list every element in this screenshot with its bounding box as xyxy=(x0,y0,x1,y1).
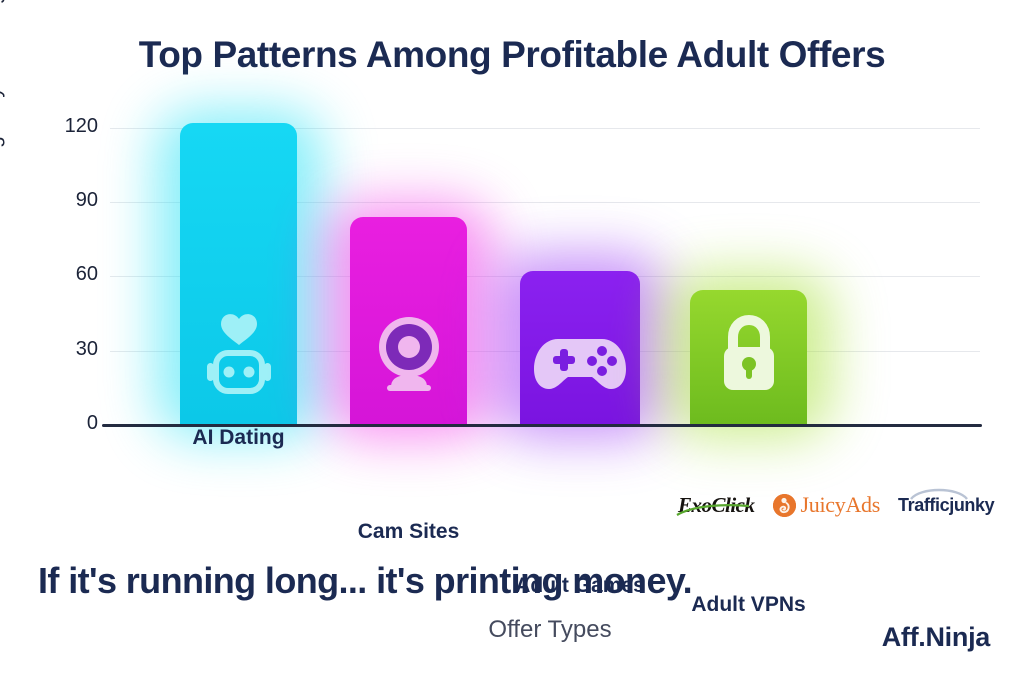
bar-group-ai-dating[interactable]: AI Dating xyxy=(180,123,297,425)
bar-group-cam-sites[interactable]: Cam Sites xyxy=(350,217,467,425)
y-tick-0: 0 xyxy=(38,412,98,435)
y-tick-120: 120 xyxy=(38,115,98,138)
bar-label-ai-dating: AI Dating xyxy=(192,426,284,450)
logo-juicyads-text: JuicyAds xyxy=(801,492,881,518)
logo-exoclick-text: ExoClick xyxy=(678,493,755,517)
gamepad-icon xyxy=(532,331,628,393)
cam-site-webcam-icon xyxy=(371,309,447,395)
y-tick-90: 90 xyxy=(38,189,98,212)
bar-label-cam-sites: Cam Sites xyxy=(358,520,460,544)
ai-dating-robot-heart-icon xyxy=(201,311,277,397)
y-tick-30: 30 xyxy=(38,338,98,361)
juicyads-mark-icon xyxy=(773,494,796,517)
bar-label-adult-vpns: Adult VPNs xyxy=(691,593,805,617)
bar-chart: Avg. Days Running 120 90 60 30 0 xyxy=(0,0,1024,540)
padlock-icon xyxy=(713,315,785,395)
plot-area: 120 90 60 30 0 AI xyxy=(110,128,980,425)
partner-logos: ExoClick JuicyAds Tr xyxy=(678,492,994,518)
logo-juicyads[interactable]: JuicyAds xyxy=(773,492,881,518)
tagline: If it's running long... it's printing mo… xyxy=(38,560,692,602)
brand-wordmark: Aff.Ninja xyxy=(882,622,990,653)
infographic-page: Top Patterns Among Profitable Adult Offe… xyxy=(0,0,1024,683)
x-axis-label: Offer Types xyxy=(110,616,990,644)
logo-exoclick[interactable]: ExoClick xyxy=(678,493,755,518)
y-axis-label: Avg. Days Running xyxy=(0,0,6,172)
logo-trafficjunky[interactable]: Trafficjunky xyxy=(898,495,994,516)
x-axis-line xyxy=(102,424,982,427)
bar-group-adult-vpns[interactable]: Adult VPNs xyxy=(690,290,807,425)
bar-group-adult-games[interactable]: Adult Games xyxy=(520,271,640,425)
trafficjunky-arc-icon xyxy=(910,486,968,500)
y-tick-60: 60 xyxy=(38,263,98,286)
